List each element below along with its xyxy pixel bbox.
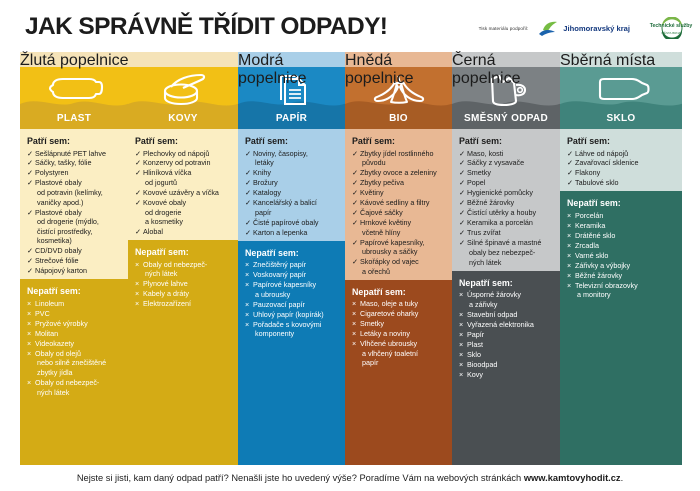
item-text: Elektrozařízení — [143, 299, 232, 309]
ts-sublabel: MĚSTA BRNA — [648, 31, 695, 35]
item-text: Zbytky jídel rostlinnéhopůvodu — [360, 149, 446, 168]
cross-icon: × — [567, 251, 571, 261]
column-sklo: SKLOPatří sem:✓Láhve od nápojů✓Zavařovac… — [560, 52, 682, 465]
cross-icon: × — [567, 231, 571, 241]
bin-name-row: Žlutá popelniceModrá popelniceHnědá pope… — [20, 52, 682, 67]
item-text: Čistící utěrky a houby — [467, 208, 554, 218]
list-item: ✓Kovové obalyod drogeriea kosmetiky — [135, 198, 232, 227]
accepted-list-sklo: Patří sem:✓Láhve od nápojů✓Zavařovací sk… — [560, 129, 682, 191]
cross-icon: × — [135, 289, 139, 299]
list-item: ✓Noviny, časopisy,letáky — [245, 149, 339, 168]
list-item: ✓Zbytky jídel rostlinnéhopůvodu — [352, 149, 446, 168]
check-icon: ✓ — [245, 178, 251, 188]
cross-icon: × — [245, 310, 249, 320]
list-item: ✓Zbytky pečiva — [352, 178, 446, 188]
column-papir: PAPÍRPatří sem:✓Noviny, časopisy,letáky✓… — [238, 52, 345, 465]
column-kovy: KOVYPatří sem:✓Plechovky od nápojů✓Konze… — [128, 52, 238, 465]
item-text: Plechovky od nápojů — [143, 149, 232, 159]
column-plast: PLASTPatří sem:✓Sešlápnuté PET lahve✓Sáč… — [20, 52, 128, 465]
list-item: ×Voskovaný papír — [245, 270, 339, 280]
list-item: ✓Strečové fólie — [27, 256, 122, 266]
category-label: PAPÍR — [238, 113, 345, 124]
footer-text: Nejste si jisti, kam daný odpad patří? N… — [0, 473, 700, 483]
list-item: ×Elektrozařízení — [135, 299, 232, 309]
list-item: ✓Běžné žárovky — [459, 198, 554, 208]
accepted-list-kovy: Patří sem:✓Plechovky od nápojů✓Konzervy … — [128, 129, 238, 240]
infographic-page: JAK SPRÁVNĚ TŘÍDIT ODPADY! Tisk materiál… — [0, 0, 700, 491]
cross-icon: × — [245, 280, 249, 290]
list-item: ×Smetky — [352, 319, 446, 329]
list-item: ×Plast — [459, 340, 554, 350]
item-text: Zbytky pečiva — [360, 178, 446, 188]
list-item: ✓Brožury — [245, 178, 339, 188]
item-text: Keramika a porcelán — [467, 218, 554, 228]
list-heading: Patří sem: — [352, 136, 446, 146]
check-icon: ✓ — [352, 208, 358, 218]
check-icon: ✓ — [567, 178, 573, 188]
list-item: ✓Zbytky ovoce a zeleniny — [352, 168, 446, 178]
list-item: ✓Plechovky od nápojů — [135, 149, 232, 159]
page-title: JAK SPRÁVNĚ TŘÍDIT ODPADY! — [25, 13, 387, 41]
list-item: ✓Plastové obalyod drogerie (mýdlo,čistíc… — [27, 208, 122, 246]
list-item: ✓Kancelářský a balicípapír — [245, 198, 339, 217]
check-icon: ✓ — [459, 218, 465, 228]
cross-icon: × — [352, 329, 356, 339]
footer-period: . — [621, 473, 624, 483]
item-text: Běžné žárovky — [575, 271, 676, 281]
list-item: ✓Maso, kosti — [459, 149, 554, 159]
bin-band-0: Žlutá popelnice — [20, 52, 238, 67]
check-icon: ✓ — [27, 168, 33, 178]
cross-icon: × — [459, 290, 463, 300]
item-text: Linoleum — [35, 299, 122, 309]
cross-icon: × — [27, 309, 31, 319]
list-heading: Nepatří sem: — [245, 248, 339, 258]
item-text: Trus zvířat — [467, 228, 554, 238]
logo-technicke-sluzby: Technické služby MĚSTA BRNA — [639, 17, 686, 39]
icon-block-kovy: KOVY — [128, 67, 238, 129]
check-icon: ✓ — [459, 228, 465, 238]
rejected-list-bio: Nepatří sem:×Maso, oleje a tuky×Cigareto… — [345, 280, 452, 465]
check-icon: ✓ — [459, 208, 465, 218]
list-heading: Patří sem: — [567, 136, 676, 146]
list-item: ×Maso, oleje a tuky — [352, 299, 446, 309]
check-icon: ✓ — [27, 266, 33, 276]
item-text: Keramika — [575, 221, 676, 231]
list-item: ×Zrcadla — [567, 241, 676, 251]
list-items: ✓Láhve od nápojů✓Zavařovací sklenice✓Fla… — [567, 149, 676, 189]
item-text: Popel — [467, 178, 554, 188]
item-text: Sklo — [467, 350, 554, 360]
item-text: Sešlápnuté PET lahve — [35, 149, 122, 159]
footer: Nejste si jisti, kam daný odpad patří? N… — [0, 465, 700, 491]
check-icon: ✓ — [27, 256, 33, 266]
cross-icon: × — [27, 339, 31, 349]
cross-icon: × — [459, 310, 463, 320]
cross-icon: × — [245, 320, 249, 330]
list-item: ×Obaly od nebezpeč-ných látek — [27, 378, 122, 397]
item-text: Karton a lepenka — [253, 228, 339, 238]
item-text: Televizní obrazovkya monitory — [575, 281, 676, 300]
list-item: ✓Tabulové sklo — [567, 178, 676, 188]
check-icon: ✓ — [27, 149, 33, 159]
list-item: ✓Popel — [459, 178, 554, 188]
list-item: ×Televizní obrazovkya monitory — [567, 281, 676, 300]
check-icon: ✓ — [245, 168, 251, 178]
waste-sorting-grid: Žlutá popelniceModrá popelniceHnědá pope… — [20, 52, 682, 465]
jmk-mark-icon — [538, 20, 560, 37]
jmk-label: Jihomoravský kraj — [563, 24, 630, 33]
list-item: ×Keramika — [567, 221, 676, 231]
list-heading: Nepatří sem: — [459, 278, 554, 288]
list-item: ×Drátěné sklo — [567, 231, 676, 241]
item-text: Porcelán — [575, 211, 676, 221]
list-items: ✓Sešlápnuté PET lahve✓Sáčky, tašky, fóli… — [27, 149, 122, 276]
item-text: Vyřazená elektronika — [467, 320, 554, 330]
item-text: Kovy — [467, 370, 554, 380]
list-item: ✓Láhve od nápojů — [567, 149, 676, 159]
check-icon: ✓ — [135, 188, 141, 198]
item-text: Videokazety — [35, 339, 122, 349]
item-text: Konzervy od potravin — [143, 158, 232, 168]
cross-icon: × — [459, 320, 463, 330]
item-text: Letáky a noviny — [360, 329, 446, 339]
item-text: Cigaretové oharky — [360, 309, 446, 319]
cross-icon: × — [352, 309, 356, 319]
list-item: ×Běžné žárovky — [567, 271, 676, 281]
cross-icon: × — [459, 350, 463, 360]
list-item: ×Zářivky a výbojky — [567, 261, 676, 271]
check-icon: ✓ — [27, 208, 33, 218]
list-item: ✓Plastové obalyod potravin (kelímky,vani… — [27, 178, 122, 207]
list-item: ✓Knihy — [245, 168, 339, 178]
accepted-list-smesny: Patří sem:✓Maso, kosti✓Sáčky z vysavače✓… — [452, 129, 560, 271]
list-heading: Patří sem: — [27, 136, 122, 146]
list-heading: Patří sem: — [459, 136, 554, 146]
list-heading: Patří sem: — [135, 136, 232, 146]
check-icon: ✓ — [352, 218, 358, 228]
list-item: ×Kovy — [459, 370, 554, 380]
cross-icon: × — [352, 339, 356, 349]
item-text: Obaly od nebezpeč-ných látek — [35, 378, 122, 397]
check-icon: ✓ — [135, 149, 141, 159]
item-text: Čisté papírové obaly — [253, 218, 339, 228]
item-text: Plastové obalyod drogerie (mýdlo,čistící… — [35, 208, 122, 246]
list-item: ✓Skořápky od vajeca ořechů — [352, 257, 446, 276]
check-icon: ✓ — [459, 188, 465, 198]
item-text: Smetky — [360, 319, 446, 329]
category-label: SMĚSNÝ ODPAD — [452, 113, 560, 124]
check-icon: ✓ — [459, 178, 465, 188]
column-smesny: SMĚSNÝ ODPADPatří sem:✓Maso, kosti✓Sáčky… — [452, 52, 560, 465]
item-text: Květiny — [360, 188, 446, 198]
check-icon: ✓ — [135, 158, 141, 168]
item-text: Plast — [467, 340, 554, 350]
list-item: ×Obaly od nebezpeč-ných látek — [135, 260, 232, 279]
cross-icon: × — [567, 261, 571, 271]
bin-band-4: Sběrná místa — [560, 52, 682, 67]
item-text: Strečové fólie — [35, 256, 122, 266]
check-icon: ✓ — [352, 198, 358, 208]
item-text: Obaly od olejůnebo silně znečištěnézbytk… — [35, 349, 122, 378]
check-icon: ✓ — [459, 168, 465, 178]
list-item: ×Plynové lahve — [135, 279, 232, 289]
item-text: Sáčky z vysavače — [467, 158, 554, 168]
list-item: ×Porcelán — [567, 211, 676, 221]
list-item: ✓Katalogy — [245, 188, 339, 198]
item-text: Kancelářský a balicípapír — [253, 198, 339, 217]
glass-bottle-icon — [560, 72, 682, 108]
item-text: Uhlový papír (kopírák) — [253, 310, 339, 320]
item-text: Voskovaný papír — [253, 270, 339, 280]
list-item: ✓Papírové kapesníky,ubrousky a sáčky — [352, 238, 446, 257]
rejected-list-smesny: Nepatří sem:×Úsporné žárovkya zářivky×St… — [452, 271, 560, 465]
item-text: Drátěné sklo — [575, 231, 676, 241]
list-items: ✓Noviny, časopisy,letáky✓Knihy✓Brožury✓K… — [245, 149, 339, 238]
list-item: ×Úsporné žárovkya zářivky — [459, 290, 554, 309]
cross-icon: × — [27, 329, 31, 339]
cross-icon: × — [567, 221, 571, 231]
list-item: ×Vyřazená elektronika — [459, 320, 554, 330]
check-icon: ✓ — [352, 149, 358, 159]
item-text: Zavařovací sklenice — [575, 158, 676, 168]
cross-icon: × — [135, 279, 139, 289]
list-item: ✓Sešlápnuté PET lahve — [27, 149, 122, 159]
ts-mark-icon: Technické služby MĚSTA BRNA — [648, 17, 678, 39]
list-item: ×Papírové kapesníkya ubrousky — [245, 280, 339, 299]
cross-icon: × — [135, 260, 139, 270]
list-item: ×Letáky a noviny — [352, 329, 446, 339]
item-text: Pořadače s kovovýmikomponenty — [253, 320, 339, 339]
footer-website: www.kamtovyhodit.cz — [524, 473, 621, 483]
item-text: Zbytky ovoce a zeleniny — [360, 168, 446, 178]
list-item: ×Pryžové výrobky — [27, 319, 122, 329]
bin-name-label: Hnědá popelnice — [345, 52, 452, 88]
list-item: ✓Hygienické pomůcky — [459, 188, 554, 198]
cross-icon: × — [352, 319, 356, 329]
list-item: ×Pauzovací papír — [245, 300, 339, 310]
list-item: ×Znečištěný papír — [245, 260, 339, 270]
list-item: ✓Kávové sedliny a filtry — [352, 198, 446, 208]
item-text: Brožury — [253, 178, 339, 188]
item-text: Skořápky od vajeca ořechů — [360, 257, 446, 276]
bin-name-label: Modrá popelnice — [238, 52, 345, 88]
check-icon: ✓ — [27, 246, 33, 256]
check-icon: ✓ — [352, 188, 358, 198]
footer-sentence: Nejste si jisti, kam daný odpad patří? N… — [77, 473, 524, 483]
item-text: Zářivky a výbojky — [575, 261, 676, 271]
list-item: ×Kabely a dráty — [135, 289, 232, 299]
list-item: ×Molitan — [27, 329, 122, 339]
list-item: ×Varné sklo — [567, 251, 676, 261]
item-text: Smetky — [467, 168, 554, 178]
bin-name-label: Sběrná místa — [560, 52, 682, 70]
cross-icon: × — [567, 281, 571, 291]
list-heading: Nepatří sem: — [135, 247, 232, 257]
item-text: Noviny, časopisy,letáky — [253, 149, 339, 168]
list-item: ✓Karton a lepenka — [245, 228, 339, 238]
check-icon: ✓ — [27, 158, 33, 168]
bin-name-label: Žlutá popelnice — [20, 52, 238, 70]
list-item: ✓Keramika a porcelán — [459, 218, 554, 228]
column-bio: BIOPatří sem:✓Zbytky jídel rostlinnéhopů… — [345, 52, 452, 465]
list-item: ✓Květiny — [352, 188, 446, 198]
bin-name-label: Černá popelnice — [452, 52, 560, 88]
cross-icon: × — [27, 319, 31, 329]
cross-icon: × — [459, 370, 463, 380]
item-text: Tabulové sklo — [575, 178, 676, 188]
item-text: Kovové obalyod drogeriea kosmetiky — [143, 198, 232, 227]
list-items: ✓Plechovky od nápojů✓Konzervy od potravi… — [135, 149, 232, 237]
rejected-list-sklo: Nepatří sem:×Porcelán×Keramika×Drátěné s… — [560, 191, 682, 465]
check-icon: ✓ — [352, 257, 358, 267]
item-text: Nápojový karton — [35, 266, 122, 276]
item-text: Papír — [467, 330, 554, 340]
check-icon: ✓ — [27, 178, 33, 188]
list-item: ✓Smetky — [459, 168, 554, 178]
plastic-bottle-icon — [20, 72, 128, 108]
header: JAK SPRÁVNĚ TŘÍDIT ODPADY! Tisk materiál… — [0, 0, 700, 52]
cross-icon: × — [27, 378, 31, 388]
cross-icon: × — [135, 299, 139, 309]
item-text: CD/DVD obaly — [35, 246, 122, 256]
list-item: ×Cigaretové oharky — [352, 309, 446, 319]
item-text: Kovové uzávěry a víčka — [143, 188, 232, 198]
cross-icon: × — [245, 260, 249, 270]
cross-icon: × — [27, 349, 31, 359]
list-items: ✓Zbytky jídel rostlinnéhopůvodu✓Zbytky o… — [352, 149, 446, 277]
sponsor-note: Tisk materiálu podpořil: — [479, 26, 529, 31]
item-text: Knihy — [253, 168, 339, 178]
check-icon: ✓ — [352, 178, 358, 188]
check-icon: ✓ — [567, 168, 573, 178]
list-item: ✓Zavařovací sklenice — [567, 158, 676, 168]
item-text: Polystyren — [35, 168, 122, 178]
list-item: ✓Polystyren — [27, 168, 122, 178]
list-heading: Nepatří sem: — [352, 287, 446, 297]
list-item: ✓CD/DVD obaly — [27, 246, 122, 256]
list-item: ✓Čistící utěrky a houby — [459, 208, 554, 218]
list-item: ✓Sáčky, tašky, fólie — [27, 158, 122, 168]
item-text: Silné špinavé a mastnéobaly bez nebezpeč… — [467, 238, 554, 267]
check-icon: ✓ — [459, 158, 465, 168]
check-icon: ✓ — [459, 238, 465, 248]
list-item: ✓Čisté papírové obaly — [245, 218, 339, 228]
item-text: Stavební odpad — [467, 310, 554, 320]
item-text: Vlhčené ubrouskya vlhčený toaletnípapír — [360, 339, 446, 368]
list-items: ✓Maso, kosti✓Sáčky z vysavače✓Smetky✓Pop… — [459, 149, 554, 268]
check-icon: ✓ — [245, 149, 251, 159]
cross-icon: × — [459, 360, 463, 370]
check-icon: ✓ — [459, 149, 465, 159]
check-icon: ✓ — [135, 198, 141, 208]
list-item: ✓Nápojový karton — [27, 266, 122, 276]
list-item: ×Bioodpad — [459, 360, 554, 370]
check-icon: ✓ — [459, 198, 465, 208]
list-item: ×Linoleum — [27, 299, 122, 309]
list-item: ✓Hliníková víčkaod jogurtů — [135, 168, 232, 187]
list-item: ×Obaly od olejůnebo silně znečištěnézbyt… — [27, 349, 122, 378]
accepted-list-papir: Patří sem:✓Noviny, časopisy,letáky✓Knihy… — [238, 129, 345, 241]
rejected-list-plast: Nepatří sem:×Linoleum×PVC×Pryžové výrobk… — [20, 279, 128, 465]
category-label: BIO — [345, 113, 452, 124]
check-icon: ✓ — [245, 198, 251, 208]
item-text: Flakony — [575, 168, 676, 178]
icon-block-sklo: SKLO — [560, 67, 682, 129]
item-text: Pryžové výrobky — [35, 319, 122, 329]
list-items: ×Linoleum×PVC×Pryžové výrobky×Molitan×Vi… — [27, 299, 122, 397]
list-heading: Patří sem: — [245, 136, 339, 146]
cross-icon: × — [459, 330, 463, 340]
category-label: PLAST — [20, 113, 128, 124]
item-text: Běžné žárovky — [467, 198, 554, 208]
list-items: ×Obaly od nebezpeč-ných látek×Plynové la… — [135, 260, 232, 309]
list-items: ×Maso, oleje a tuky×Cigaretové oharky×Sm… — [352, 299, 446, 368]
list-item: ✓Kovové uzávěry a víčka — [135, 188, 232, 198]
item-text: Zrcadla — [575, 241, 676, 251]
item-text: Znečištěný papír — [253, 260, 339, 270]
list-item: ✓Sáčky z vysavače — [459, 158, 554, 168]
check-icon: ✓ — [567, 149, 573, 159]
item-text: Maso, oleje a tuky — [360, 299, 446, 309]
list-item: ✓Flakony — [567, 168, 676, 178]
item-text: Sáčky, tašky, fólie — [35, 158, 122, 168]
list-item: ✓Konzervy od potravin — [135, 158, 232, 168]
rejected-list-kovy: Nepatří sem:×Obaly od nebezpeč-ných láte… — [128, 240, 238, 465]
list-item: ×Videokazety — [27, 339, 122, 349]
list-item: ✓Alobal — [135, 227, 232, 237]
list-item: ✓Čajové sáčky — [352, 208, 446, 218]
rejected-list-papir: Nepatří sem:×Znečištěný papír×Voskovaný … — [238, 241, 345, 465]
cross-icon: × — [567, 211, 571, 221]
item-text: Papírové kapesníky,ubrousky a sáčky — [360, 238, 446, 257]
item-text: Láhve od nápojů — [575, 149, 676, 159]
list-item: ×Vlhčené ubrouskya vlhčený toaletnípapír — [352, 339, 446, 368]
accepted-list-plast: Patří sem:✓Sešlápnuté PET lahve✓Sáčky, t… — [20, 129, 128, 279]
item-text: Hygienické pomůcky — [467, 188, 554, 198]
icon-block-plast: PLAST — [20, 67, 128, 129]
item-text: Alobal — [143, 227, 232, 237]
check-icon: ✓ — [567, 158, 573, 168]
item-text: Úsporné žárovkya zářivky — [467, 290, 554, 309]
check-icon: ✓ — [135, 227, 141, 237]
item-text: Bioodpad — [467, 360, 554, 370]
list-heading: Nepatří sem: — [567, 198, 676, 208]
item-text: Obaly od nebezpeč-ných látek — [143, 260, 232, 279]
list-item: ×Papír — [459, 330, 554, 340]
list-items: ×Znečištěný papír×Voskovaný papír×Papíro… — [245, 260, 339, 339]
list-item: ✓Trus zvířat — [459, 228, 554, 238]
item-text: Papírové kapesníkya ubrousky — [253, 280, 339, 299]
cross-icon: × — [459, 340, 463, 350]
check-icon: ✓ — [352, 238, 358, 248]
metal-can-icon — [128, 72, 238, 108]
item-text: PVC — [35, 309, 122, 319]
list-item: ✓Silné špinavé a mastnéobaly bez nebezpe… — [459, 238, 554, 267]
bin-band-1: Modrá popelnice — [238, 52, 345, 67]
logo-jihomoravsky-kraj: Jihomoravský kraj — [538, 20, 630, 37]
cross-icon: × — [245, 270, 249, 280]
list-item: ✓Hrnkové květinyvčetně hlíny — [352, 218, 446, 237]
list-heading: Nepatří sem: — [27, 286, 122, 296]
list-item: ×Stavební odpad — [459, 310, 554, 320]
check-icon: ✓ — [245, 228, 251, 238]
accepted-list-bio: Patří sem:✓Zbytky jídel rostlinnéhopůvod… — [345, 129, 452, 280]
item-text: Čajové sáčky — [360, 208, 446, 218]
list-item: ×PVC — [27, 309, 122, 319]
cross-icon: × — [27, 299, 31, 309]
item-text: Maso, kosti — [467, 149, 554, 159]
